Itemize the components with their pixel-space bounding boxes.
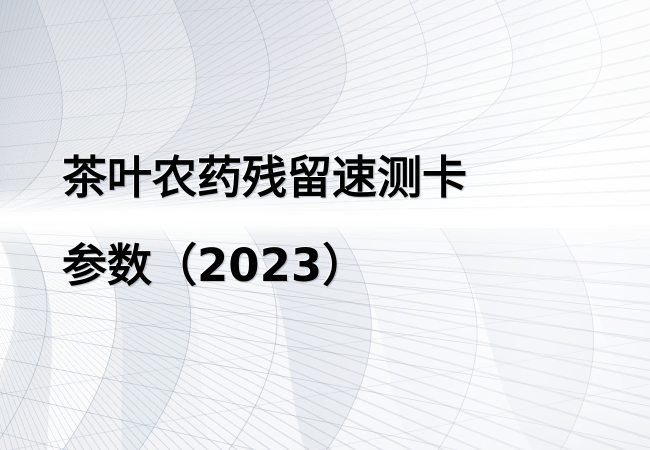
banner-title: 茶叶农药残留速测卡 参数（2023） (62, 134, 467, 310)
title-line-1: 茶叶农药残留速测卡 (62, 134, 467, 222)
title-line-2: 参数（2023） (62, 222, 467, 310)
title-banner: 茶叶农药残留速测卡 参数（2023） (0, 0, 650, 450)
